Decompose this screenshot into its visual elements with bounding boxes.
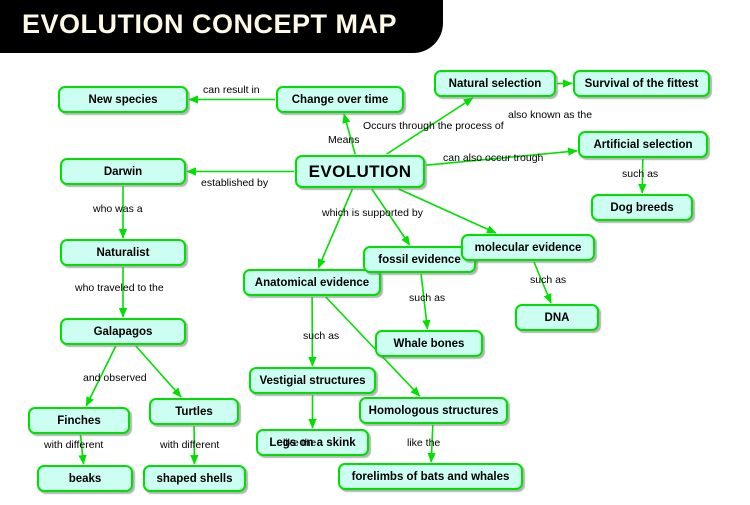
link-label-also_known: also known as the xyxy=(508,109,592,121)
concept-node-anatomical[interactable]: Anatomical evidence xyxy=(243,269,381,296)
concept-node-label: Change over time xyxy=(292,94,389,106)
concept-node-label: Homologous structures xyxy=(369,405,499,417)
concept-node-label: Darwin xyxy=(104,166,142,178)
concept-node-forelimbs[interactable]: forelimbs of bats and whales xyxy=(338,463,523,490)
concept-node-dog_breeds[interactable]: Dog breeds xyxy=(591,194,693,221)
concept-node-label: shaped shells xyxy=(156,473,232,485)
concept-node-label: Artificial selection xyxy=(593,139,692,151)
link-label-like_the_fore: like the xyxy=(407,437,440,449)
link-label-established_by: established by xyxy=(201,177,268,189)
concept-node-naturalist[interactable]: Naturalist xyxy=(60,239,186,266)
link-label-such_as_fossil: such as xyxy=(409,292,445,304)
link-label-can_also_occur: can also occur trough xyxy=(443,152,543,164)
concept-node-molecular[interactable]: molecular evidence xyxy=(461,234,595,261)
concept-node-label: Finches xyxy=(57,415,100,427)
link-label-such_as_anat: such as xyxy=(303,330,339,342)
concept-node-label: Anatomical evidence xyxy=(255,277,369,289)
link-label-supported_by: which is supported by xyxy=(322,207,423,219)
link-label-who_traveled: who traveled to the xyxy=(75,282,164,294)
concept-node-dna[interactable]: DNA xyxy=(515,304,599,331)
concept-node-whale_bones[interactable]: Whale bones xyxy=(375,330,483,357)
concept-node-label: New species xyxy=(88,94,157,106)
concept-node-label: Vestigial structures xyxy=(259,375,365,387)
concept-node-label: Galapagos xyxy=(94,326,153,338)
concept-node-label: beaks xyxy=(69,473,102,485)
concept-node-beaks[interactable]: beaks xyxy=(37,465,133,492)
link-label-and_observed: and observed xyxy=(83,372,147,384)
concept-map-page: EVOLUTION CONCEPT MAP New speciesChange … xyxy=(0,0,750,505)
link-label-with_diff_turtles: with different xyxy=(160,439,219,451)
link-label-like_the_skink: like the xyxy=(283,437,316,449)
link-evolution-to-anat xyxy=(318,189,352,268)
concept-node-label: Dog breeds xyxy=(610,202,673,214)
concept-node-artificial[interactable]: Artificial selection xyxy=(578,131,708,158)
concept-node-label: Natural selection xyxy=(449,78,542,90)
concept-node-change_time[interactable]: Change over time xyxy=(276,86,404,113)
concept-node-label: molecular evidence xyxy=(475,242,582,254)
link-label-with_diff_finches: with different xyxy=(44,439,103,451)
concept-node-survival[interactable]: Survival of the fittest xyxy=(573,70,710,97)
concept-node-label: Whale bones xyxy=(394,338,465,350)
concept-node-label: EVOLUTION xyxy=(309,162,412,182)
concept-node-natural_sel[interactable]: Natural selection xyxy=(434,70,556,97)
link-label-occurs_through: Occurs through the process of xyxy=(363,120,504,132)
link-label-means: Means xyxy=(328,134,360,146)
concept-node-homologous[interactable]: Homologous structures xyxy=(359,397,508,424)
concept-node-new_species[interactable]: New species xyxy=(58,86,188,113)
concept-node-vestigial[interactable]: Vestigial structures xyxy=(249,367,376,394)
concept-node-label: fossil evidence xyxy=(378,254,460,266)
concept-node-finches[interactable]: Finches xyxy=(28,407,130,434)
concept-node-label: Turtles xyxy=(175,406,213,418)
concept-node-galapagos[interactable]: Galapagos xyxy=(60,318,186,345)
concept-node-turtles[interactable]: Turtles xyxy=(149,398,239,425)
link-label-can_result_in: can result in xyxy=(203,84,260,96)
concept-node-label: forelimbs of bats and whales xyxy=(352,471,510,483)
link-label-who_was_a: who was a xyxy=(93,203,143,215)
link-label-such_as_mol: such as xyxy=(530,274,566,286)
concept-node-fossil[interactable]: fossil evidence xyxy=(363,246,476,273)
concept-node-shaped[interactable]: shaped shells xyxy=(143,465,246,492)
concept-node-label: Naturalist xyxy=(96,247,149,259)
concept-node-label: Survival of the fittest xyxy=(585,78,699,90)
link-label-such_as_dog: such as xyxy=(622,168,658,180)
concept-node-darwin[interactable]: Darwin xyxy=(60,158,186,185)
concept-node-label: DNA xyxy=(545,312,570,324)
concept-node-evolution[interactable]: EVOLUTION xyxy=(295,155,425,188)
